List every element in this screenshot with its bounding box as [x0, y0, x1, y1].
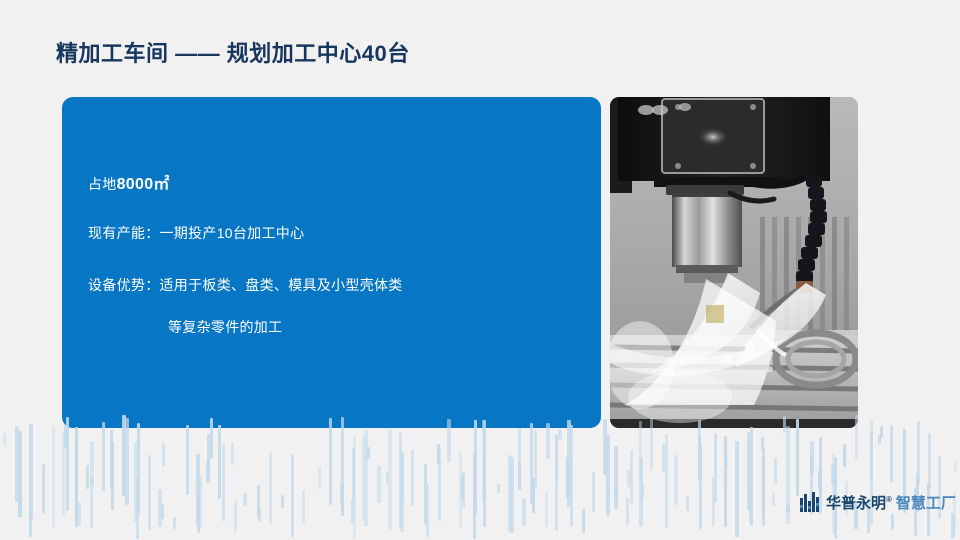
decorative-bar [29, 424, 33, 519]
decorative-bar [351, 499, 354, 523]
decorative-bar [712, 477, 715, 527]
decorative-bar [603, 419, 607, 475]
decorative-bar [818, 470, 822, 490]
decorative-bar [198, 475, 202, 529]
decorative-bar [42, 464, 45, 513]
decorative-bar [762, 458, 765, 526]
decorative-bar [158, 489, 162, 527]
decorative-bar [566, 457, 569, 498]
decorative-bar [197, 496, 200, 533]
decorative-bar [626, 498, 629, 525]
decorative-bar [78, 502, 81, 526]
decorative-bar-pattern [0, 415, 960, 540]
decorative-bar [497, 484, 500, 493]
decorative-bar [231, 442, 234, 465]
brand-name: 华普永明® [826, 492, 892, 513]
decorative-bar [161, 504, 164, 519]
decorative-bar [437, 444, 440, 464]
decorative-bar [614, 446, 618, 509]
decorative-bar [699, 444, 702, 529]
decorative-bar [615, 487, 618, 500]
decorative-bar [90, 477, 93, 528]
decorative-bar [341, 417, 344, 511]
decorative-bar [870, 420, 873, 479]
decorative-bar [377, 466, 381, 503]
decorative-bar [786, 505, 790, 513]
decorative-bar [698, 420, 701, 481]
decorative-bar [438, 448, 441, 521]
decorative-bar [111, 442, 114, 510]
decorative-bar [62, 431, 65, 515]
decorative-bar [125, 418, 129, 505]
registered-trademark-icon: ® [886, 495, 892, 504]
panel-line-advantage-continued: 等复杂零件的加工 [168, 319, 282, 336]
decorative-bar [401, 454, 404, 502]
decorative-bar [570, 425, 573, 526]
decorative-bar [954, 461, 957, 471]
decorative-bar [148, 455, 151, 530]
decorative-bar [917, 421, 920, 485]
decorative-bar [399, 432, 402, 527]
decorative-bar [735, 441, 739, 537]
decorative-bar [534, 430, 537, 489]
decorative-bar [462, 472, 465, 508]
cnc-machining-center-photo [610, 97, 858, 428]
decorative-bar [641, 484, 644, 498]
decorative-bar [606, 435, 610, 516]
decorative-bar [714, 433, 717, 502]
decorative-bar [362, 436, 365, 521]
decorative-bar [461, 475, 464, 499]
decorative-bar [218, 425, 221, 499]
decorative-bar [474, 492, 477, 515]
area-value: 8000㎡ [117, 176, 170, 193]
decorative-bar [318, 467, 321, 489]
decorative-bar [555, 434, 558, 481]
panel-line-advantage: 设备优势：适用于板类、盘类、模具及小型壳体类 [88, 277, 403, 294]
slide-canvas: 精加工车间 —— 规划加工中心40台 占地8000㎡ 现有产能：一期投产10台加… [0, 0, 960, 540]
decorative-bar [162, 443, 165, 467]
info-panel: 占地8000㎡ 现有产能：一期投产10台加工中心 设备优势：适用于板类、盘类、模… [62, 97, 601, 428]
decorative-bar [136, 476, 139, 539]
decorative-bar [52, 426, 55, 528]
decorative-bar [761, 437, 764, 450]
decorative-bar [843, 444, 846, 467]
decorative-bar [662, 444, 665, 472]
area-label: 占地 [88, 176, 117, 192]
decorative-bar [388, 429, 392, 531]
decorative-bar [18, 431, 22, 517]
decorative-bar [134, 442, 137, 522]
decorative-bar [698, 435, 701, 480]
decorative-bar [796, 419, 799, 496]
decorative-bar [639, 421, 642, 481]
decorative-bar [86, 465, 89, 489]
decorative-bar [426, 484, 429, 537]
decorative-bar [510, 457, 514, 533]
brand-name-text: 华普永明 [826, 495, 886, 512]
decorative-bar [686, 496, 689, 511]
decorative-bar [258, 509, 261, 522]
decorative-bar [774, 458, 777, 484]
decorative-bar [386, 471, 389, 484]
decorative-bar [3, 433, 6, 445]
decorative-bar [66, 417, 69, 511]
huapu-yongming-logo-mark [800, 492, 822, 512]
decorative-bar [483, 420, 486, 490]
decorative-bar [257, 485, 260, 517]
decorative-bar [786, 426, 790, 524]
decorative-bar [474, 420, 477, 512]
sub-brand-name: 智慧工厂 [896, 492, 956, 513]
decorative-bar [340, 482, 343, 505]
decorative-bar [674, 455, 678, 505]
decorative-bar [329, 418, 332, 505]
decorative-bar [750, 427, 753, 526]
decorative-bar [482, 420, 485, 501]
decorative-bar [207, 434, 210, 477]
decorative-bar [639, 457, 643, 526]
decorative-bar [567, 420, 571, 507]
decorative-bar [725, 456, 728, 467]
decorative-bar [234, 501, 237, 532]
decorative-bar [747, 432, 751, 510]
decorative-bar [545, 491, 548, 527]
decorative-bar [222, 444, 225, 521]
decorative-bar [281, 495, 284, 508]
decorative-bar [173, 517, 176, 529]
decorative-bar [341, 483, 344, 516]
decorative-bar [928, 433, 931, 489]
decorative-bar [110, 430, 113, 489]
decorative-bar [532, 478, 535, 513]
decorative-bar [555, 436, 558, 531]
decorative-bar [951, 513, 955, 538]
decorative-bar [186, 425, 189, 495]
decorative-bar [530, 423, 533, 504]
decorative-bar [291, 454, 294, 537]
decorative-bar [819, 437, 822, 498]
decorative-bar [831, 465, 835, 485]
decorative-bar [518, 428, 521, 468]
decorative-bar [366, 447, 370, 459]
decorative-bar [508, 455, 511, 532]
decorative-bar [75, 439, 78, 519]
decorative-bar [473, 453, 476, 539]
decorative-bar [546, 423, 550, 459]
decorative-bar [64, 425, 67, 449]
decorative-bar [582, 509, 585, 533]
page-title: 精加工车间 —— 规划加工中心40台 [56, 36, 410, 68]
decorative-bar [90, 441, 94, 486]
decorative-bar [243, 493, 247, 506]
decorative-bar [364, 430, 368, 526]
decorative-bar [352, 447, 355, 502]
decorative-bar [724, 436, 727, 485]
decorative-bar [665, 434, 668, 528]
decorative-bar [206, 461, 210, 483]
decorative-bar [102, 422, 105, 491]
decorative-bar [878, 435, 881, 444]
panel-line-capacity: 现有产能：一期投产10台加工中心 [88, 225, 304, 242]
decorative-bar [592, 472, 595, 512]
decorative-bar [724, 437, 727, 527]
decorative-bar [196, 454, 200, 526]
panel-line-area: 占地8000㎡ [88, 175, 170, 194]
decorative-bar [459, 452, 462, 528]
decorative-bar [353, 436, 356, 538]
decorative-bar [269, 452, 272, 524]
decorative-bar [15, 426, 19, 502]
decorative-bar [411, 450, 414, 506]
decorative-bar [137, 423, 140, 514]
decorative-bar [772, 492, 775, 506]
decorative-bar [627, 470, 631, 487]
decorative-bar [518, 462, 521, 490]
decorative-bar [424, 464, 427, 524]
decorative-bar [400, 451, 404, 532]
decorative-bar [890, 425, 893, 483]
photo-illustration [610, 97, 858, 428]
decorative-bar [75, 427, 78, 527]
footer-brand-logo: 华普永明® 智慧工厂 [800, 491, 956, 513]
decorative-bar [558, 430, 562, 440]
decorative-bar [302, 490, 305, 523]
decorative-bar [483, 461, 486, 527]
decorative-bar [630, 450, 633, 505]
decorative-bar [762, 447, 765, 515]
decorative-bar [29, 508, 32, 537]
decorative-bar [810, 441, 814, 474]
decorative-bar [749, 490, 752, 523]
decorative-bar [522, 499, 526, 526]
decorative-bar [880, 426, 883, 438]
decorative-bar [891, 514, 894, 530]
